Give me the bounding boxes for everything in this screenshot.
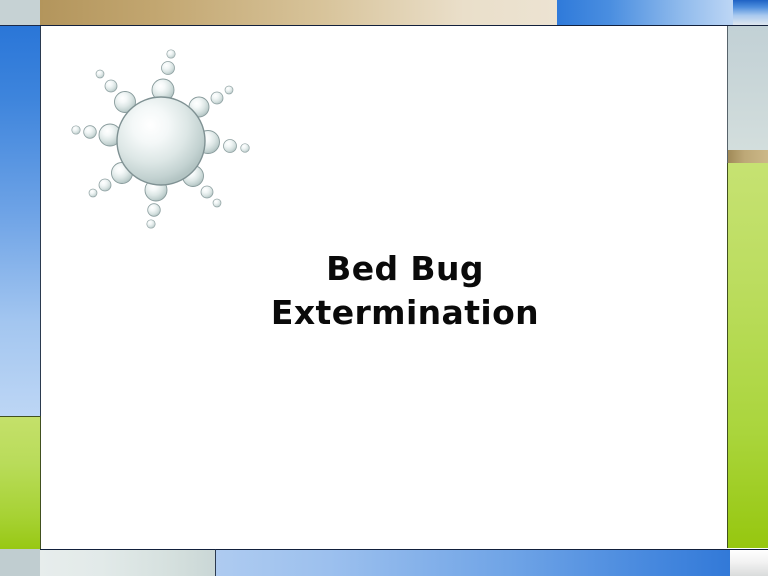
decor-bottom-right-fade	[730, 549, 768, 576]
decor-bottom-left-corner	[0, 549, 40, 576]
decor-bottom-gray-band	[40, 549, 216, 576]
slide-title-line-1: Bed Bug	[170, 247, 640, 291]
decor-top-left-corner	[0, 0, 40, 26]
ray-upper-left	[96, 70, 136, 113]
sunburst-core-sphere	[117, 97, 205, 185]
ray-left	[72, 124, 121, 146]
slide-title: Bed Bug Extermination	[170, 247, 640, 334]
decor-top-blue-band	[557, 0, 733, 26]
decor-left-lime-strip	[0, 416, 41, 549]
slide-title-line-2: Extermination	[170, 291, 640, 335]
decor-right-tan-divider	[727, 150, 768, 164]
ray-upper-right	[189, 86, 233, 117]
bubble-sunburst-icon	[62, 42, 262, 237]
slide-canvas: Bed Bug Extermination	[0, 0, 768, 576]
decor-bottom-blue-band	[216, 549, 730, 576]
decor-left-blue-strip	[0, 26, 41, 416]
decor-right-grayblue-panel	[727, 26, 768, 150]
ray-down	[145, 179, 167, 228]
decor-top-tan-band	[40, 0, 557, 26]
decor-top-right-fade	[733, 0, 768, 26]
ray-up	[152, 50, 175, 101]
decor-right-lime-panel	[727, 163, 768, 548]
